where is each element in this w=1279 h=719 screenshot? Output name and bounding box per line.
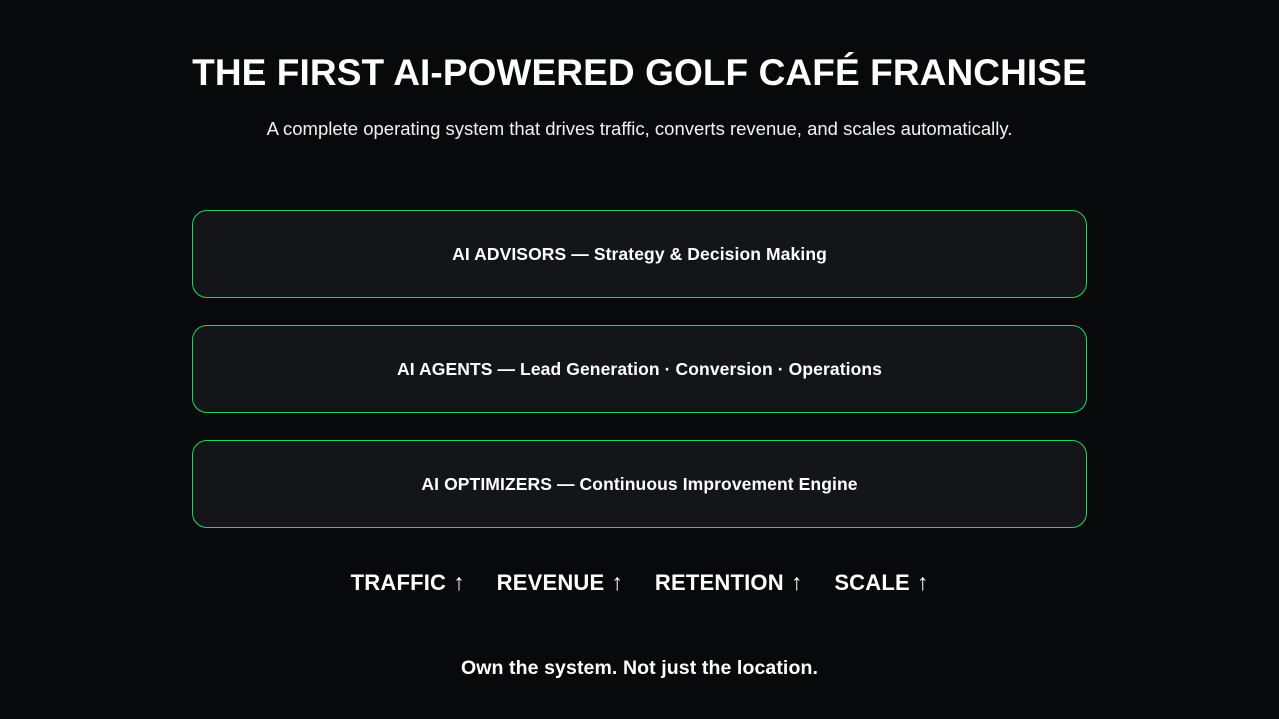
arrow-up-icon: ↑ [917, 571, 929, 594]
slide-header: THE FIRST AI-POWERED GOLF CAFÉ FRANCHISE… [0, 0, 1279, 141]
pillar-card-optimizers[interactable]: AI OPTIMIZERS — Continuous Improvement E… [192, 440, 1087, 528]
metric-label: TRAFFIC [351, 570, 447, 596]
metric-traffic: TRAFFIC ↑ [351, 570, 465, 596]
pillar-card-label: AI ADVISORS — Strategy & Decision Making [452, 244, 827, 265]
pillar-card-list: AI ADVISORS — Strategy & Decision Making… [192, 210, 1087, 528]
pillar-card-label: AI AGENTS — Lead Generation · Conversion… [397, 359, 882, 380]
arrow-up-icon: ↑ [791, 571, 803, 594]
page-title: THE FIRST AI-POWERED GOLF CAFÉ FRANCHISE [0, 52, 1279, 95]
metric-scale: SCALE ↑ [834, 570, 928, 596]
page-subtitle: A complete operating system that drives … [0, 95, 1279, 141]
tagline: Own the system. Not just the location. [0, 657, 1279, 680]
metrics-row: TRAFFIC ↑ REVENUE ↑ RETENTION ↑ SCALE ↑ [0, 570, 1279, 596]
metric-retention: RETENTION ↑ [655, 570, 802, 596]
slide-root: THE FIRST AI-POWERED GOLF CAFÉ FRANCHISE… [0, 0, 1279, 719]
metric-label: REVENUE [497, 570, 605, 596]
arrow-up-icon: ↑ [453, 571, 465, 594]
pillar-card-advisors[interactable]: AI ADVISORS — Strategy & Decision Making [192, 210, 1087, 298]
metric-revenue: REVENUE ↑ [497, 570, 623, 596]
pillar-card-agents[interactable]: AI AGENTS — Lead Generation · Conversion… [192, 325, 1087, 413]
arrow-up-icon: ↑ [611, 571, 623, 594]
metric-label: SCALE [834, 570, 910, 596]
metric-label: RETENTION [655, 570, 784, 596]
pillar-card-label: AI OPTIMIZERS — Continuous Improvement E… [421, 474, 857, 495]
